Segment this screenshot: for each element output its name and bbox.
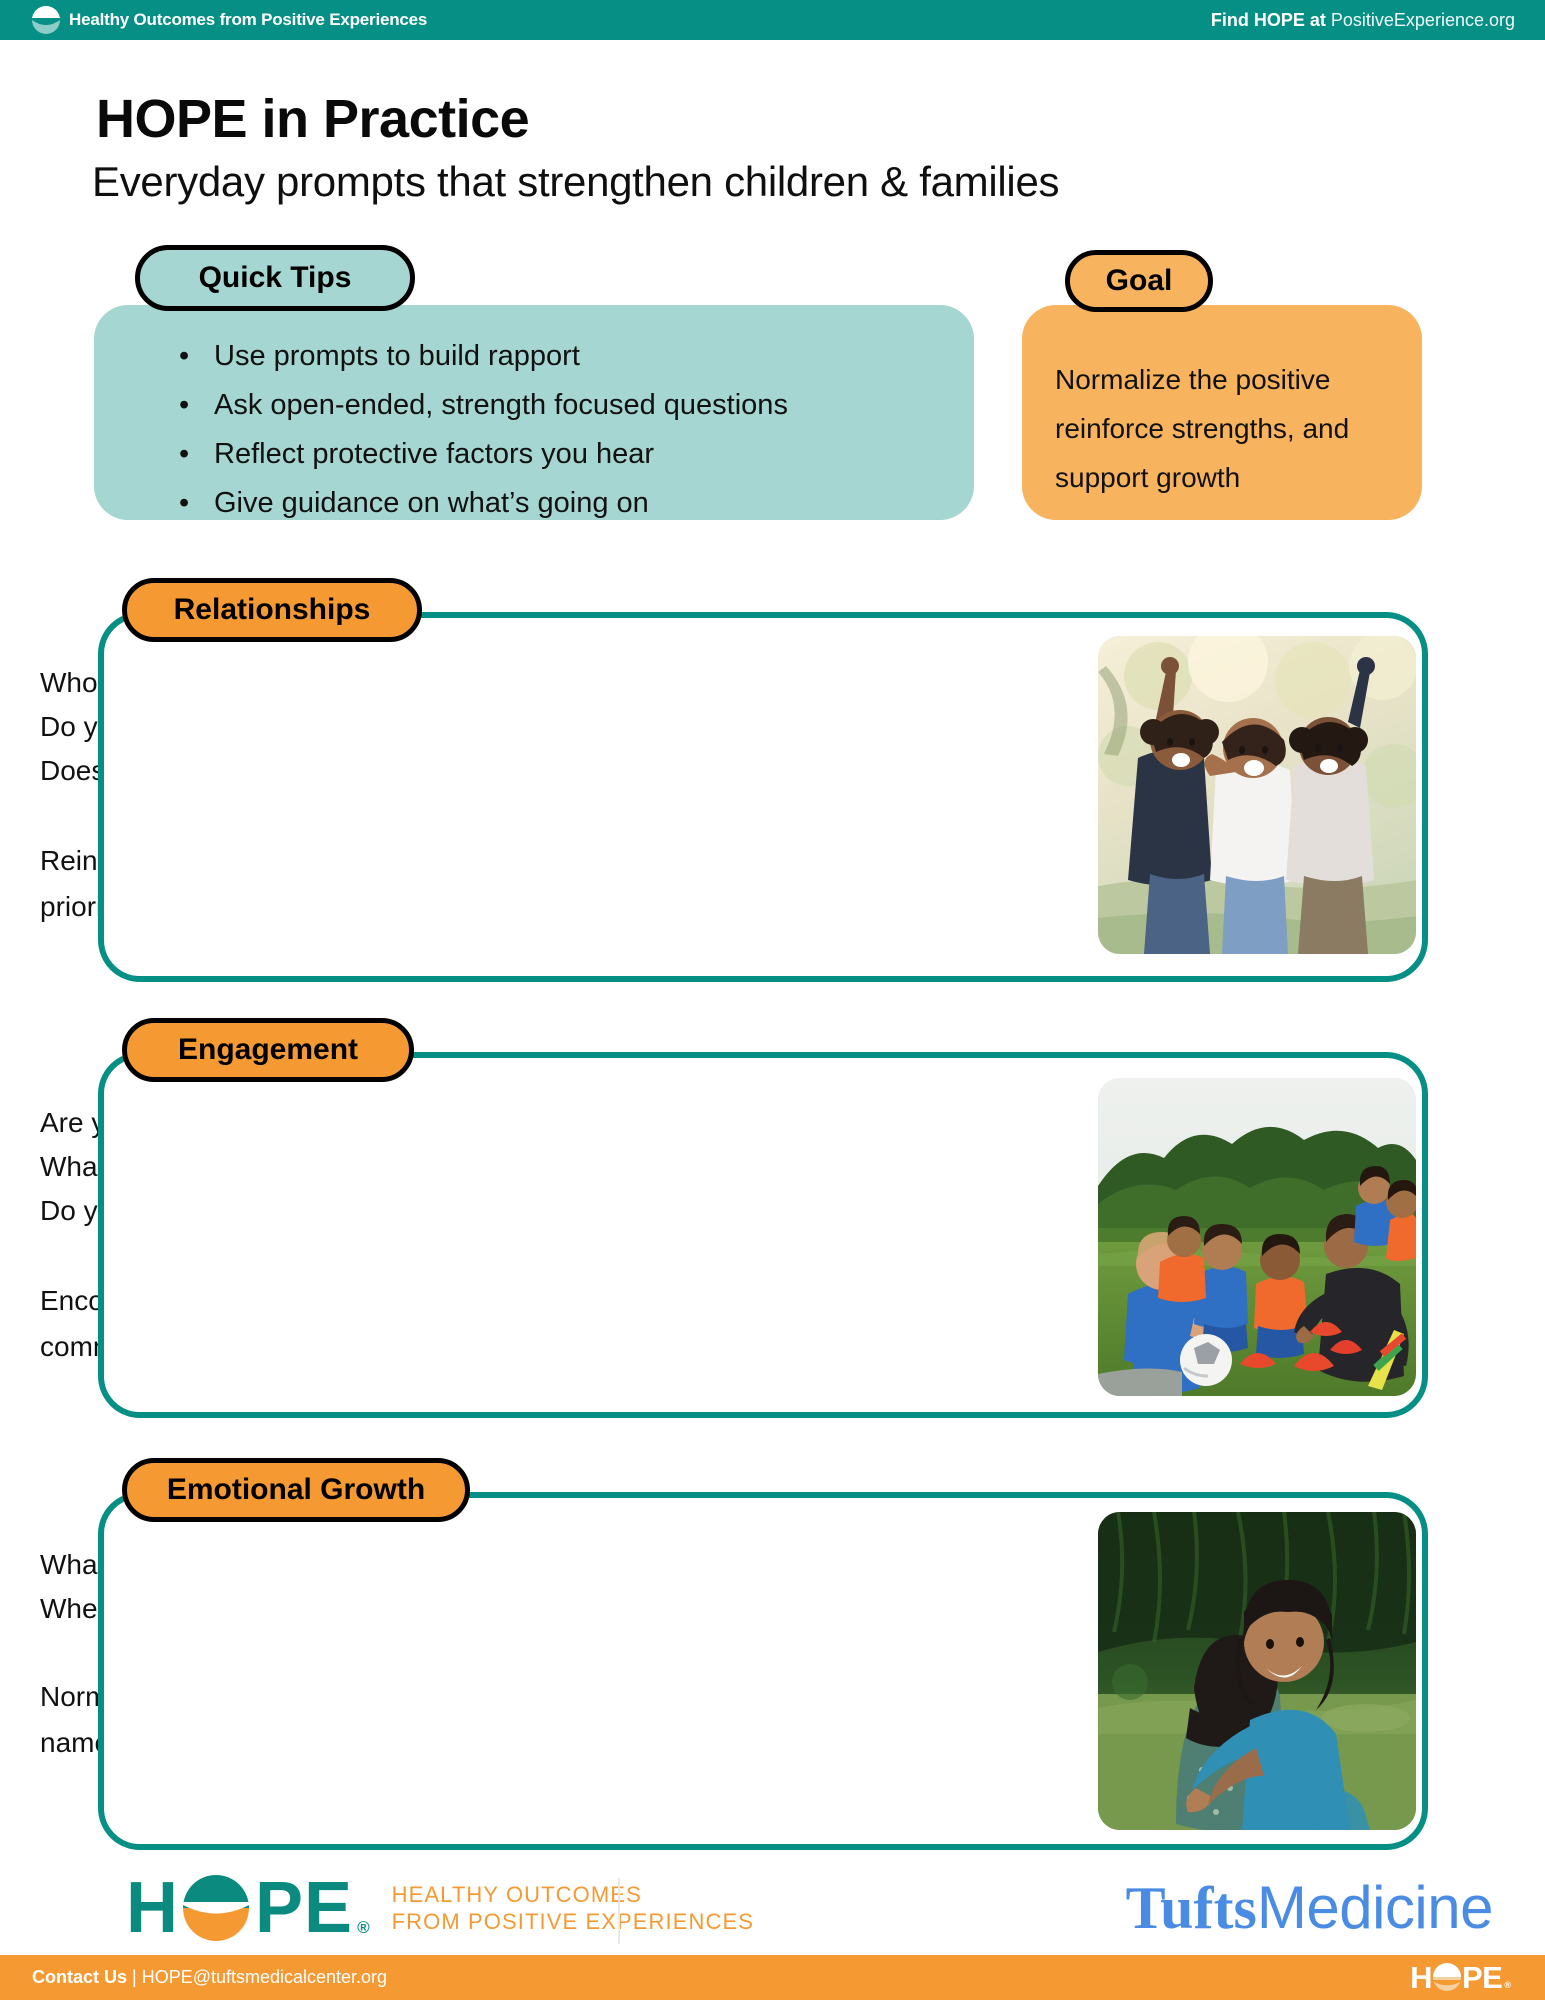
section-tab-relationships: Relationships: [122, 578, 422, 642]
quick-tips-tab: Quick Tips: [135, 245, 415, 311]
top-header-bar: Healthy Outcomes from Positive Experienc…: [0, 0, 1545, 40]
hope-footer-bar-logo: H P E ®: [1410, 1961, 1511, 1993]
hope-sunrise-o-icon: [1433, 1963, 1461, 1991]
poster-page: Healthy Outcomes from Positive Experienc…: [0, 0, 1545, 2000]
page-subtitle: Everyday prompts that strengthen childre…: [92, 158, 1059, 206]
footer-divider: [618, 1878, 620, 1944]
hope-letter-h: H: [126, 1872, 177, 1944]
section-tab-label: Engagement: [178, 1035, 358, 1065]
hope-tagline-line1: HEALTHY OUTCOMES: [392, 1881, 754, 1908]
header-title: Healthy Outcomes from Positive Experienc…: [69, 10, 427, 30]
page-title: HOPE in Practice: [96, 88, 529, 150]
hope-wordmark: H P E ®: [126, 1872, 370, 1944]
hope-footer-logo: H P E ® HEALTHY OUTCOMES FROM POSITIVE E…: [126, 1872, 754, 1944]
hope-letter-p: P: [1462, 1962, 1482, 1993]
goal-tab: Goal: [1065, 250, 1213, 312]
tufts-medicine-logo: TuftsMedicine: [1126, 1878, 1493, 1938]
header-find-hope[interactable]: Find HOPE at PositiveExperience.org: [1211, 10, 1515, 31]
list-item: Ask open-ended, strength focused questio…: [175, 381, 788, 430]
hope-sunrise-logo-icon: [32, 6, 60, 34]
contact-info[interactable]: Contact Us | HOPE@tuftsmedicalcenter.org: [32, 1967, 387, 1988]
photo-relationships: [1098, 636, 1416, 954]
hope-letter-h: H: [1410, 1962, 1432, 1993]
goal-text: Normalize the positive reinforce strengt…: [1055, 355, 1425, 502]
contact-email[interactable]: | HOPE@tuftsmedicalcenter.org: [127, 1967, 387, 1987]
section-tab-label: Relationships: [174, 595, 371, 625]
hope-letter-e: E: [304, 1872, 351, 1944]
section-tab-engagement: Engagement: [122, 1018, 414, 1082]
hope-letter-p: P: [255, 1872, 302, 1944]
registered-trademark-icon: ®: [357, 1918, 370, 1938]
list-item: Use prompts to build rapport: [175, 332, 788, 381]
photo-engagement: [1098, 1078, 1416, 1396]
header-find-hope-label: Find HOPE at: [1211, 10, 1326, 30]
hope-sunrise-o-icon: [183, 1875, 249, 1941]
section-tab-emotional-growth: Emotional Growth: [122, 1458, 470, 1522]
registered-trademark-icon: ®: [1504, 1980, 1511, 1990]
hope-tagline: HEALTHY OUTCOMES FROM POSITIVE EXPERIENC…: [392, 1881, 754, 1935]
quick-tips-label: Quick Tips: [199, 263, 352, 293]
tufts-wordmark-bold: Tufts: [1126, 1875, 1257, 1941]
hope-tagline-line2: FROM POSITIVE EXPERIENCES: [392, 1908, 754, 1935]
contact-us-label: Contact Us: [32, 1967, 127, 1987]
header-brand: Healthy Outcomes from Positive Experienc…: [32, 6, 427, 34]
tufts-wordmark-light: Medicine: [1257, 1874, 1493, 1941]
quick-tips-list: Use prompts to build rapport Ask open-en…: [175, 332, 788, 528]
goal-label: Goal: [1106, 266, 1173, 296]
section-tab-label: Emotional Growth: [167, 1475, 425, 1505]
bottom-footer-bar: Contact Us | HOPE@tuftsmedicalcenter.org…: [0, 1955, 1545, 2000]
hope-letter-e: E: [1482, 1962, 1502, 1993]
list-item: Reflect protective factors you hear: [175, 430, 788, 479]
list-item: Give guidance on what’s going on: [175, 479, 788, 528]
photo-emotional-growth: [1098, 1512, 1416, 1830]
header-website-link[interactable]: PositiveExperience.org: [1331, 10, 1515, 30]
